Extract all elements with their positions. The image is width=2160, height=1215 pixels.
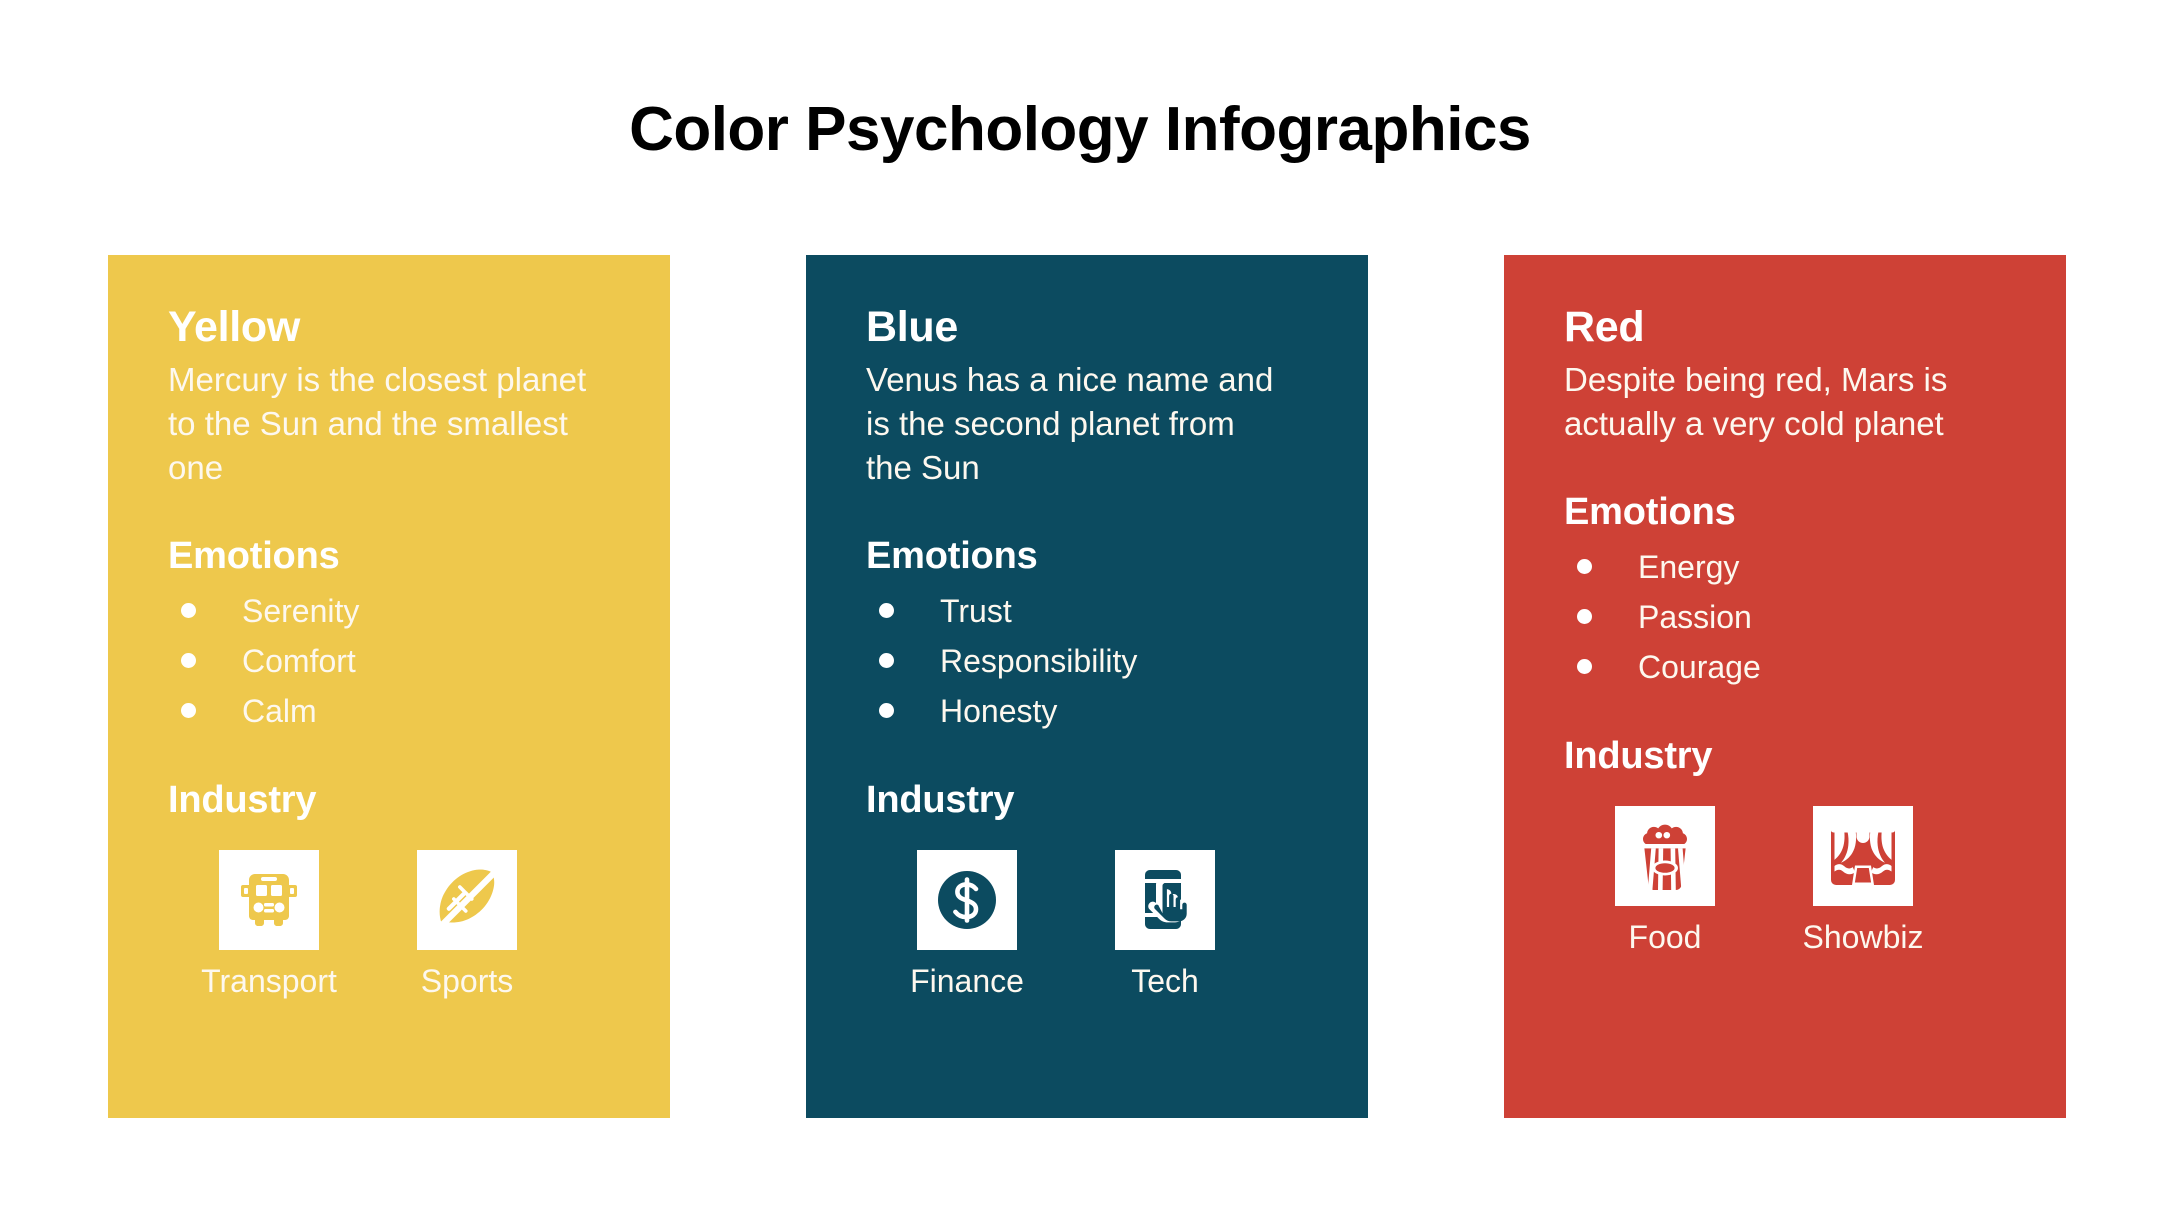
industry-label: Tech — [1131, 964, 1199, 999]
emotions-list-blue: Trust Responsibility Honesty — [866, 586, 1326, 736]
list-item: Courage — [1564, 642, 2024, 692]
emotions-list-red: Energy Passion Courage — [1564, 542, 2024, 692]
industry-row-red: Food — [1564, 806, 2024, 955]
color-description-blue: Venus has a nice name and is the second … — [866, 358, 1286, 490]
list-item: Serenity — [168, 586, 628, 636]
bullet-icon — [1577, 609, 1592, 624]
infographic-slide: Color Psychology Infographics Yellow Mer… — [0, 0, 2160, 1215]
emotion-label: Calm — [242, 695, 317, 727]
emotion-label: Passion — [1638, 601, 1752, 633]
industry-row-yellow: Transport — [168, 850, 628, 999]
industry-heading-red: Industry — [1564, 736, 2024, 778]
industry-label: Showbiz — [1803, 920, 1924, 955]
list-item: Passion — [1564, 592, 2024, 642]
football-icon-tile — [417, 850, 517, 950]
industry-label: Transport — [201, 964, 337, 999]
popcorn-icon-tile — [1615, 806, 1715, 906]
emotions-heading-blue: Emotions — [866, 536, 1326, 578]
color-card-red: Red Despite being red, Mars is actually … — [1504, 255, 2066, 1118]
dollar-coin-icon — [931, 864, 1003, 936]
smartphone-touch-icon — [1129, 864, 1201, 936]
dollar-coin-icon-tile — [917, 850, 1017, 950]
industry-item-tech: Tech — [1066, 850, 1264, 999]
emotion-label: Serenity — [242, 595, 359, 627]
page-title: Color Psychology Infographics — [0, 96, 2160, 164]
industry-item-finance: Finance — [868, 850, 1066, 999]
bullet-icon — [1577, 559, 1592, 574]
list-item: Comfort — [168, 636, 628, 686]
color-name-yellow: Yellow — [168, 303, 628, 352]
emotion-label: Honesty — [940, 695, 1057, 727]
bullet-icon — [181, 653, 196, 668]
color-name-red: Red — [1564, 303, 2024, 352]
industry-label: Food — [1629, 920, 1702, 955]
industry-label: Finance — [910, 964, 1024, 999]
bullet-icon — [1577, 659, 1592, 674]
bullet-icon — [181, 603, 196, 618]
industry-item-transport: Transport — [170, 850, 368, 999]
emotions-list-yellow: Serenity Comfort Calm — [168, 586, 628, 736]
color-name-blue: Blue — [866, 303, 1326, 352]
industry-heading-blue: Industry — [866, 780, 1326, 822]
color-cards-row: Yellow Mercury is the closest planet to … — [108, 255, 2066, 1118]
industry-label: Sports — [421, 964, 513, 999]
emotion-label: Comfort — [242, 645, 356, 677]
list-item: Calm — [168, 686, 628, 736]
industry-item-sports: Sports — [368, 850, 566, 999]
industry-heading-yellow: Industry — [168, 780, 628, 822]
emotion-label: Courage — [1638, 651, 1761, 683]
emotion-label: Responsibility — [940, 645, 1137, 677]
industry-item-showbiz: Showbiz — [1764, 806, 1962, 955]
bullet-icon — [879, 703, 894, 718]
theatre-curtains-icon — [1826, 819, 1900, 893]
popcorn-icon — [1629, 820, 1701, 892]
list-item: Honesty — [866, 686, 1326, 736]
color-description-yellow: Mercury is the closest planet to the Sun… — [168, 358, 588, 490]
list-item: Energy — [1564, 542, 2024, 592]
theatre-curtains-icon-tile — [1813, 806, 1913, 906]
color-card-blue: Blue Venus has a nice name and is the se… — [806, 255, 1368, 1118]
industry-item-food: Food — [1566, 806, 1764, 955]
emotion-label: Energy — [1638, 551, 1739, 583]
color-description-red: Despite being red, Mars is actually a ve… — [1564, 358, 1984, 446]
emotion-label: Trust — [940, 595, 1012, 627]
industry-row-blue: Finance — [866, 850, 1326, 999]
color-card-yellow: Yellow Mercury is the closest planet to … — [108, 255, 670, 1118]
bullet-icon — [181, 703, 196, 718]
emotions-heading-red: Emotions — [1564, 492, 2024, 534]
list-item: Responsibility — [866, 636, 1326, 686]
list-item: Trust — [866, 586, 1326, 636]
school-bus-icon-tile — [219, 850, 319, 950]
bullet-icon — [879, 653, 894, 668]
school-bus-icon — [233, 864, 305, 936]
emotions-heading-yellow: Emotions — [168, 536, 628, 578]
bullet-icon — [879, 603, 894, 618]
smartphone-touch-icon-tile — [1115, 850, 1215, 950]
football-icon — [430, 863, 504, 937]
